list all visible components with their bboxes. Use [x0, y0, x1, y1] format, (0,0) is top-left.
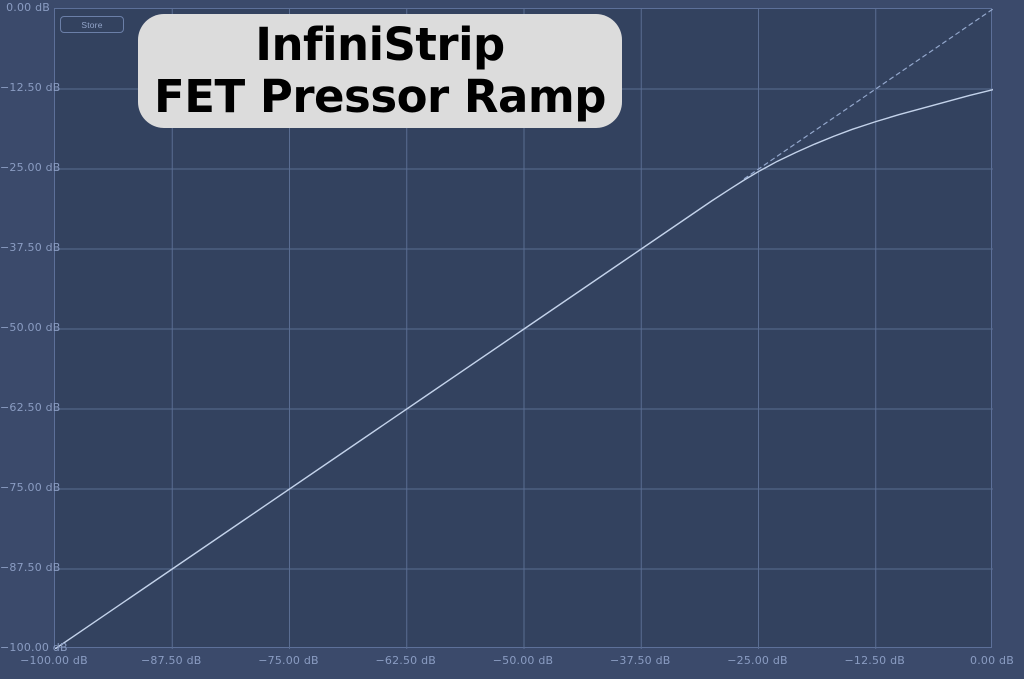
transfer-curve-plot[interactable]	[54, 8, 992, 648]
y-tick-label: −87.50 dB	[0, 562, 50, 574]
y-tick-label: −25.00 dB	[0, 162, 50, 174]
x-tick-label: −12.50 dB	[825, 655, 925, 667]
series-1	[744, 9, 993, 179]
y-tick-label: −37.50 dB	[0, 242, 50, 254]
y-tick-label: 0.00 dB	[0, 2, 50, 14]
x-tick-label: −87.50 dB	[121, 655, 221, 667]
plot-canvas	[55, 9, 993, 649]
store-button[interactable]: Store	[60, 16, 124, 33]
x-tick-label: −100.00 dB	[4, 655, 104, 667]
plugin-window: AdmiralBumbleBee.com 0.00 dB−12.50 dB−25…	[0, 0, 1024, 679]
x-tick-label: −50.00 dB	[473, 655, 573, 667]
x-tick-label: −75.00 dB	[239, 655, 339, 667]
y-tick-label: −50.00 dB	[0, 322, 50, 334]
x-tick-label: −62.50 dB	[356, 655, 456, 667]
y-tick-label: −100.00 dB	[0, 642, 50, 654]
y-tick-label: −62.50 dB	[0, 402, 50, 414]
y-tick-label: −12.50 dB	[0, 82, 50, 94]
x-tick-label: 0.00 dB	[942, 655, 1024, 667]
x-tick-label: −25.00 dB	[708, 655, 808, 667]
y-tick-label: −75.00 dB	[0, 482, 50, 494]
x-tick-label: −37.50 dB	[590, 655, 690, 667]
